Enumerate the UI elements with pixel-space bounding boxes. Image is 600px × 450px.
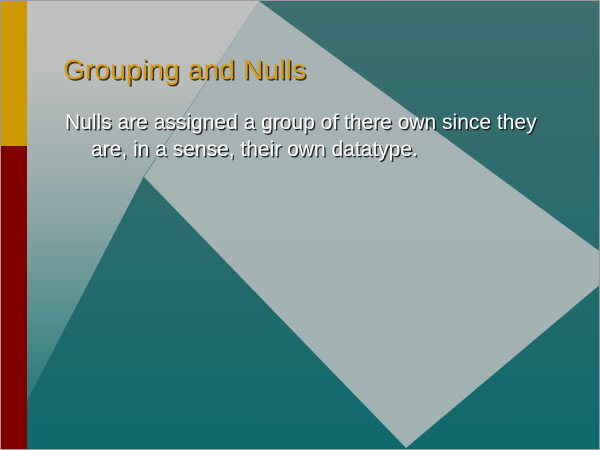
slide-title: Grouping and Nulls: [63, 55, 563, 86]
slide-content-area: Grouping and Nulls Nulls are assigned a …: [27, 1, 599, 449]
body-paragraph: Nulls are assigned a group of there own …: [65, 109, 550, 164]
sidebar-dark-red-bar: [1, 146, 27, 450]
left-accent-sidebar: [1, 1, 27, 450]
presentation-slide: Grouping and Nulls Nulls are assigned a …: [0, 0, 600, 450]
slide-body-text: Nulls are assigned a group of there own …: [65, 109, 550, 164]
sidebar-gold-bar: [1, 1, 27, 146]
